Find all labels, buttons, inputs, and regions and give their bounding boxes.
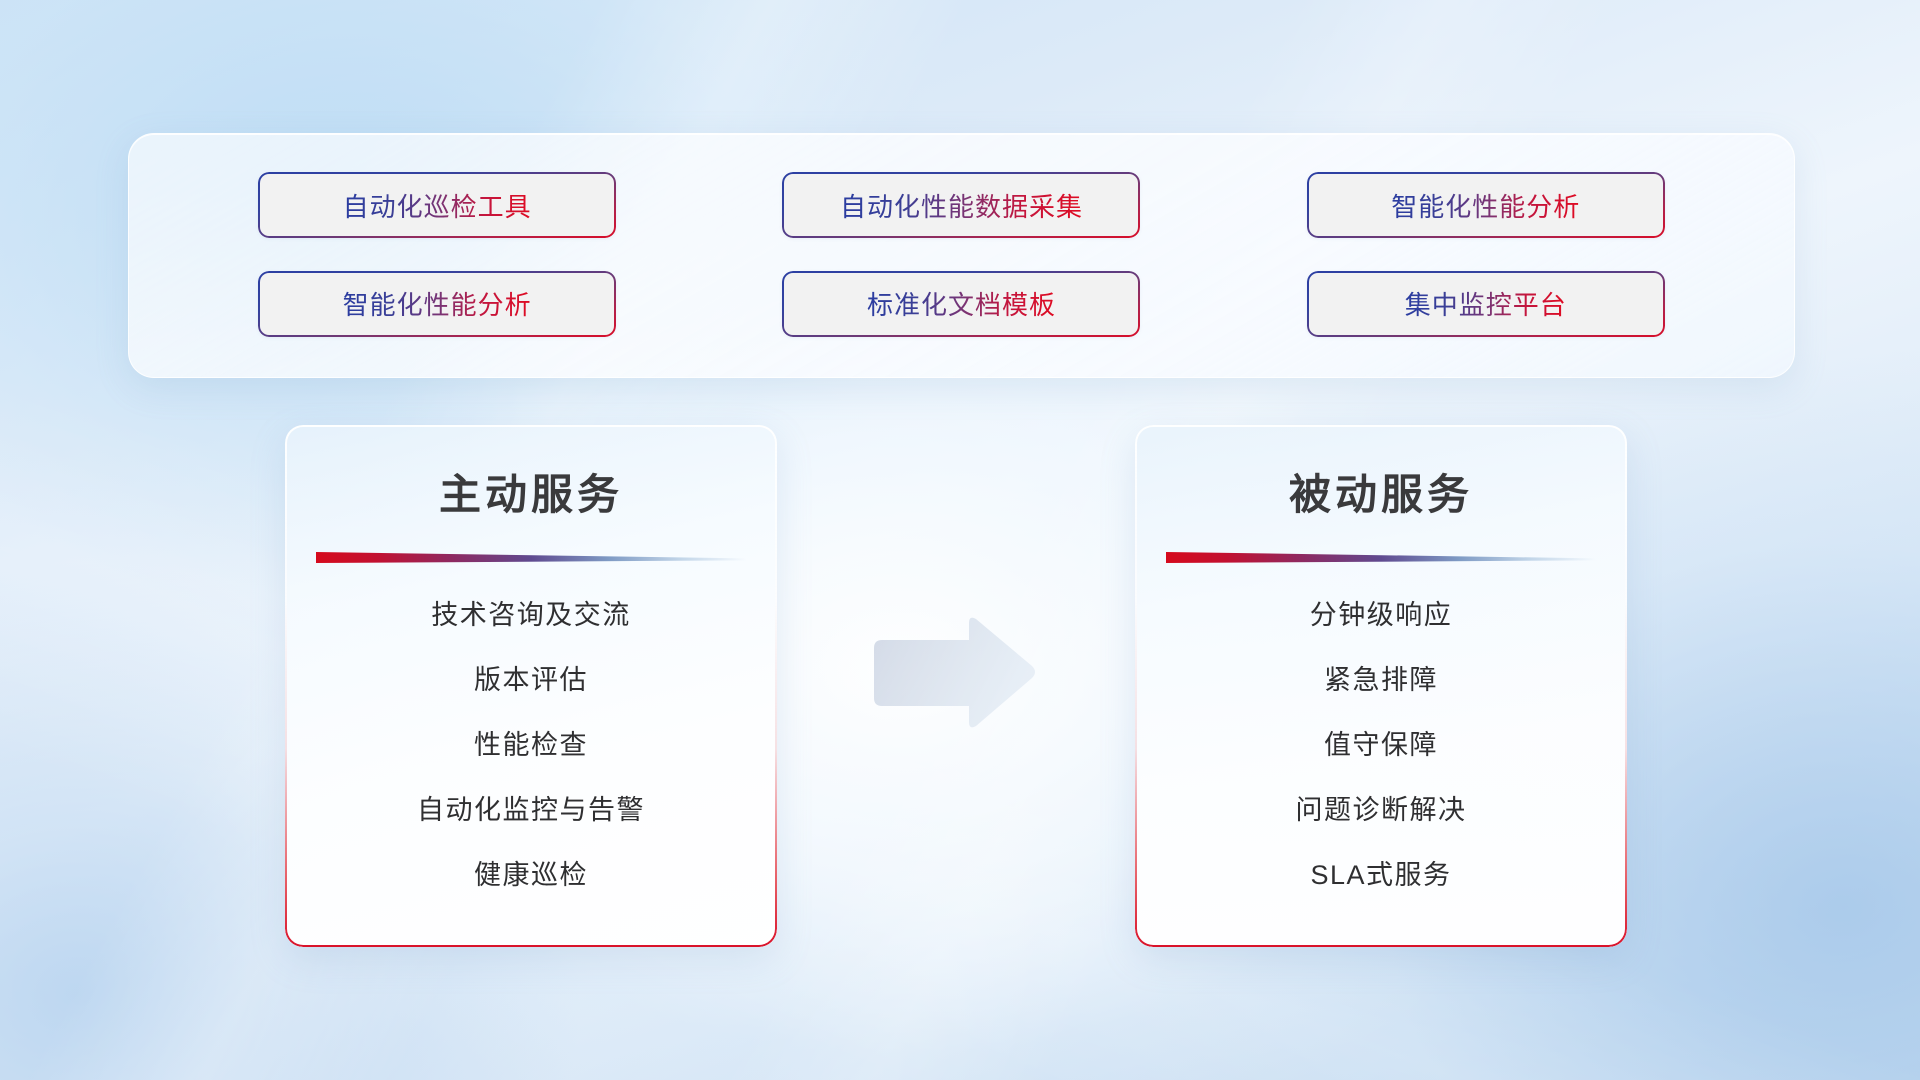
card-title: 被动服务 bbox=[1135, 461, 1627, 522]
card-item: 自动化监控与告警 bbox=[417, 788, 645, 827]
card-item: 技术咨询及交流 bbox=[431, 593, 631, 632]
service-card-active: 主动服务 技术咨询及交流 版本评估 性能检查 自动化监控与告警 健康巡检 bbox=[285, 425, 777, 947]
capability-pill-label: 标准化文档模板 bbox=[867, 285, 1056, 322]
capability-tags-panel: 自动化巡检工具 自动化性能数据采集 智能化性能分析 智能化性能分析 标准化文档模… bbox=[128, 133, 1795, 378]
slide-canvas: 自动化巡检工具 自动化性能数据采集 智能化性能分析 智能化性能分析 标准化文档模… bbox=[0, 0, 1920, 1080]
arrow-right-icon bbox=[866, 614, 1038, 732]
capability-pill-5[interactable]: 标准化文档模板 bbox=[782, 271, 1140, 337]
card-item: 健康巡检 bbox=[474, 853, 588, 892]
card-item: 值守保障 bbox=[1324, 723, 1438, 762]
card-item-list: 分钟级响应 紧急排障 值守保障 问题诊断解决 SLA式服务 bbox=[1135, 593, 1627, 892]
card-divider bbox=[1166, 552, 1596, 563]
card-item: 分钟级响应 bbox=[1310, 593, 1453, 632]
card-item-list: 技术咨询及交流 版本评估 性能检查 自动化监控与告警 健康巡检 bbox=[285, 593, 777, 892]
capability-pill-3[interactable]: 智能化性能分析 bbox=[1307, 172, 1665, 238]
capability-pill-1[interactable]: 自动化巡检工具 bbox=[258, 172, 616, 238]
card-item: 版本评估 bbox=[474, 658, 588, 697]
capability-pill-2[interactable]: 自动化性能数据采集 bbox=[782, 172, 1140, 238]
capability-pill-label: 智能化性能分析 bbox=[343, 285, 532, 322]
card-title: 主动服务 bbox=[285, 461, 777, 522]
service-card-passive: 被动服务 分钟级响应 紧急排障 值守保障 问题诊断解决 SLA式服务 bbox=[1135, 425, 1627, 947]
capability-pill-label: 自动化性能数据采集 bbox=[840, 187, 1083, 224]
card-item: 紧急排障 bbox=[1324, 658, 1438, 697]
card-item: 问题诊断解决 bbox=[1296, 788, 1467, 827]
capability-pill-6[interactable]: 集中监控平台 bbox=[1307, 271, 1665, 337]
card-item: 性能检查 bbox=[474, 723, 588, 762]
card-item: SLA式服务 bbox=[1310, 853, 1451, 892]
capability-pill-4[interactable]: 智能化性能分析 bbox=[258, 271, 616, 337]
capability-pill-label: 自动化巡检工具 bbox=[343, 187, 532, 224]
capability-pill-label: 智能化性能分析 bbox=[1391, 187, 1580, 224]
capability-pill-label: 集中监控平台 bbox=[1405, 285, 1567, 322]
card-divider bbox=[316, 552, 746, 563]
